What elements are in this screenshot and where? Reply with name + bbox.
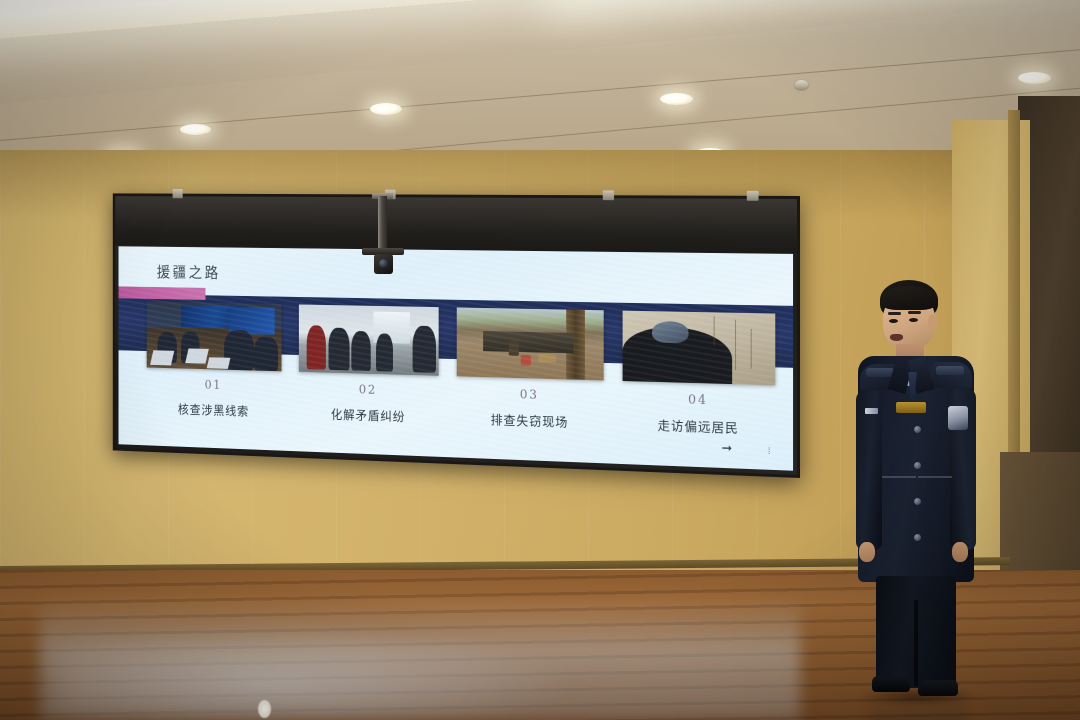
- next-slide-arrow-icon[interactable]: ➞: [722, 441, 733, 454]
- photo-person: [413, 326, 436, 373]
- card-label: 走访偏远居民: [622, 414, 775, 438]
- floor-debris: [258, 700, 271, 718]
- screen-hanger: [603, 190, 614, 200]
- photo-person: [376, 333, 393, 372]
- smoke-detector-icon: [795, 80, 808, 89]
- eye-left: [889, 319, 898, 323]
- jacket-button: [914, 426, 921, 433]
- photo-branch: [750, 329, 751, 369]
- trouser-gap: [914, 600, 918, 686]
- hand-left: [859, 542, 875, 562]
- slide-card-02[interactable]: 02化解矛盾纠纷: [298, 304, 438, 470]
- recessed-downlight-icon: [370, 103, 402, 115]
- photo-person: [329, 328, 350, 370]
- jacket-button: [914, 534, 921, 541]
- epaulette-left: [866, 368, 894, 377]
- card-number: 01: [147, 377, 281, 395]
- mouth: [890, 334, 903, 341]
- slide-card-row: 01核查涉黑线索02化解矛盾纠纷03排查失窃现场04走访偏远居民: [147, 302, 776, 471]
- screen-hanger: [747, 191, 759, 201]
- jacket-button: [914, 462, 921, 469]
- camera-mount-pole: [378, 196, 387, 252]
- card-label: 核查涉黑线索: [147, 399, 281, 421]
- photo-remote-resident-visit: [622, 311, 775, 386]
- screen-top-bezel: [115, 196, 797, 253]
- photo-mediation-session: [298, 304, 438, 375]
- slide-page-marker: ⁞: [768, 446, 771, 456]
- police-officer: [852, 280, 980, 700]
- eyebrow-right: [908, 311, 921, 314]
- slide-title: 援疆之路: [157, 260, 221, 283]
- epaulette-right: [936, 366, 964, 375]
- photo-meeting-room-briefing: [147, 302, 281, 372]
- photo-crate: [538, 354, 556, 363]
- shoe-right: [918, 680, 958, 696]
- photo-person: [351, 331, 371, 371]
- projection-screen[interactable]: 援疆之路 01核查涉黑线索02化解矛盾纠纷03排查失窃现场04走访偏远居民 ➞ …: [113, 193, 800, 478]
- recessed-downlight-icon: [660, 93, 693, 105]
- card-number: 04: [622, 391, 775, 410]
- hair-fringe: [881, 286, 937, 310]
- photo-person: [509, 340, 519, 355]
- eye-right: [909, 318, 918, 322]
- ear: [928, 314, 938, 329]
- shoulder-patch-icon: [948, 406, 968, 430]
- floor-glare: [60, 628, 580, 720]
- conference-room-scene: 援疆之路 01核查涉黑线索02化解矛盾纠纷03排查失窃现场04走访偏远居民 ➞ …: [0, 0, 1080, 720]
- photo-laptop: [185, 349, 208, 364]
- photo-bucket: [520, 354, 530, 365]
- slide-card-04[interactable]: 04走访偏远居民: [622, 311, 775, 471]
- jacket-pocket-line: [882, 476, 916, 478]
- photo-laptop: [150, 351, 174, 366]
- eyebrow-left: [888, 312, 901, 315]
- photo-branch: [713, 317, 714, 345]
- photo-branch: [735, 320, 736, 370]
- arm-left: [856, 390, 882, 550]
- rank-insignia-icon: [865, 408, 878, 414]
- slide-accent-bar-pink: [119, 286, 206, 299]
- screen-hanger: [173, 189, 183, 198]
- camera-lens-icon: [379, 259, 388, 268]
- jacket-button: [914, 498, 921, 505]
- hand-right: [952, 542, 968, 562]
- photo-laptop: [207, 357, 231, 368]
- figure-floor-reflection: [870, 696, 966, 720]
- shoe-left: [872, 676, 910, 692]
- slide-card-03[interactable]: 03排查失窃现场: [457, 307, 603, 470]
- photo-cap: [652, 321, 688, 343]
- card-label: 化解矛盾纠纷: [298, 404, 438, 427]
- card-number: 02: [298, 381, 438, 399]
- slide-card-01[interactable]: 01核查涉黑线索: [147, 302, 281, 468]
- photo-person: [307, 325, 326, 370]
- slide-canvas[interactable]: 援疆之路 01核查涉黑线索02化解矛盾纠纷03排查失窃现场04走访偏远居民 ➞ …: [119, 246, 793, 470]
- photo-rural-theft-scene: [457, 307, 603, 380]
- recessed-downlight-icon: [180, 124, 211, 135]
- jacket-pocket-line: [918, 476, 952, 478]
- photo-person: [254, 336, 279, 371]
- card-number: 03: [457, 386, 603, 405]
- chest-badge-icon: [896, 402, 926, 413]
- card-label: 排查失窃现场: [457, 409, 603, 432]
- photo-mud-hut: [483, 331, 574, 353]
- recessed-downlight-icon: [1018, 72, 1051, 84]
